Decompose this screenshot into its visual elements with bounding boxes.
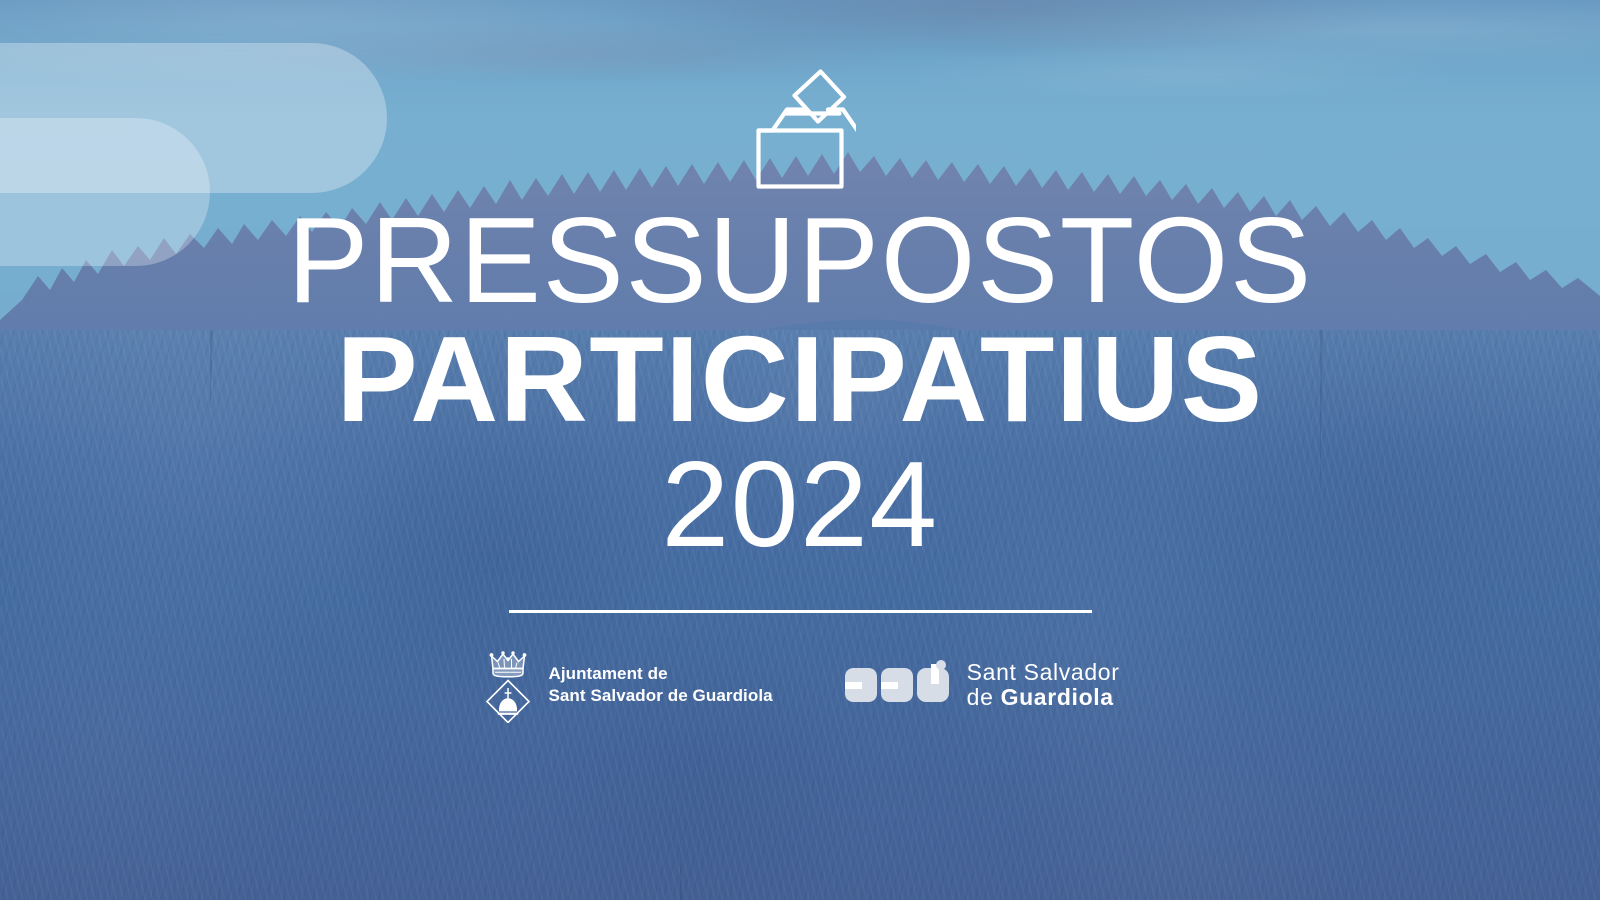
title-divider — [509, 610, 1092, 613]
ssg-logo-text: Sant Salvador de Guardiola — [967, 660, 1120, 711]
ssg-logo: Sant Salvador de Guardiola — [845, 660, 1120, 711]
logo-row: Ajuntament de Sant Salvador de Guardiola — [480, 647, 1119, 723]
poster-root: PRESSUPOSTOS PARTICIPATIUS 2024 — [0, 0, 1600, 900]
ballot-box-icon — [744, 62, 856, 190]
title-line-pressupostos: PRESSUPOSTOS — [287, 204, 1313, 317]
crown-and-shield-crest-icon — [480, 647, 536, 723]
ajuntament-logo-line-2: Sant Salvador de Guardiola — [548, 685, 772, 707]
poster-content: PRESSUPOSTOS PARTICIPATIUS 2024 — [0, 0, 1600, 900]
ajuntament-logo: Ajuntament de Sant Salvador de Guardiola — [480, 647, 772, 723]
ssg-logo-line-2-bold: Guardiola — [1001, 684, 1114, 710]
title-line-participatius: PARTICIPATIUS — [287, 317, 1313, 441]
title-line-year: 2024 — [287, 442, 1313, 566]
ssg-monogram-icon — [845, 660, 953, 710]
ssg-logo-line-2: de Guardiola — [967, 685, 1120, 710]
poster-title-block: PRESSUPOSTOS PARTICIPATIUS 2024 — [287, 204, 1313, 566]
ajuntament-logo-line-1: Ajuntament de — [548, 663, 772, 685]
ssg-logo-line-1: Sant Salvador — [967, 660, 1120, 685]
ssg-logo-line-2-light: de — [967, 684, 1001, 710]
ajuntament-logo-text: Ajuntament de Sant Salvador de Guardiola — [548, 663, 772, 707]
